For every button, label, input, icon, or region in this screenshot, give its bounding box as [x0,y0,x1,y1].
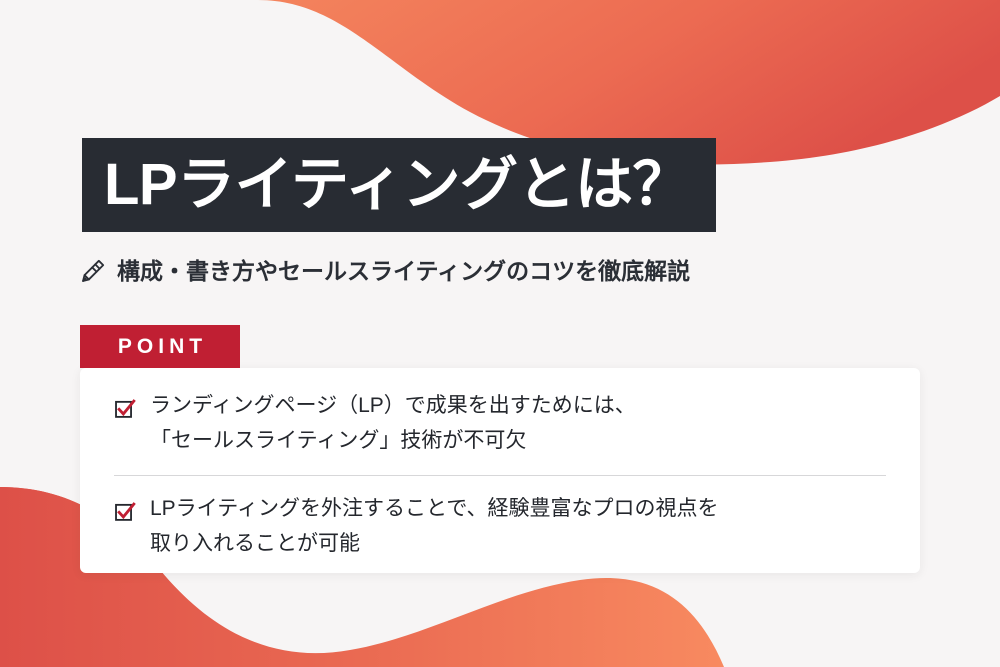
point-badge-label: POINT [113,336,207,357]
point-item-2-text: LPライティングを外注することで、経験豊富なプロの視点を 取り入れることが可能 [150,495,719,557]
point-item-1: ランディングページ（LP）で成果を出すためには、 「セールスライティング」技術が… [114,392,886,454]
pencil-icon [80,258,106,284]
slide-canvas: LPライティングとは？ 構成・書き方やセールスライティングのコツを徹底解説 PO… [0,0,1000,667]
checkbox-checked-icon [114,501,136,523]
point-item-2-line-1: LPライティングを外注することで、経験豊富なプロの視点を [150,495,719,523]
page-title-block: LPライティングとは？ [82,138,716,232]
point-card: ランディングページ（LP）で成果を出すためには、 「セールスライティング」技術が… [80,368,920,573]
page-subtitle-row: 構成・書き方やセールスライティングのコツを徹底解説 [80,258,690,284]
page-subtitle: 構成・書き方やセールスライティングのコツを徹底解説 [117,260,690,283]
point-item-1-line-1: ランディングページ（LP）で成果を出すためには、 [150,392,636,420]
page-title: LPライティングとは？ [104,156,690,214]
checkbox-checked-icon [114,398,136,420]
point-item-2: LPライティングを外注することで、経験豊富なプロの視点を 取り入れることが可能 [114,495,886,557]
point-badge: POINT [80,325,240,368]
point-item-1-line-2: 「セールスライティング」技術が不可欠 [150,427,636,455]
point-item-1-text: ランディングページ（LP）で成果を出すためには、 「セールスライティング」技術が… [150,392,636,454]
point-divider [114,475,886,476]
point-item-2-line-2: 取り入れることが可能 [150,530,719,558]
